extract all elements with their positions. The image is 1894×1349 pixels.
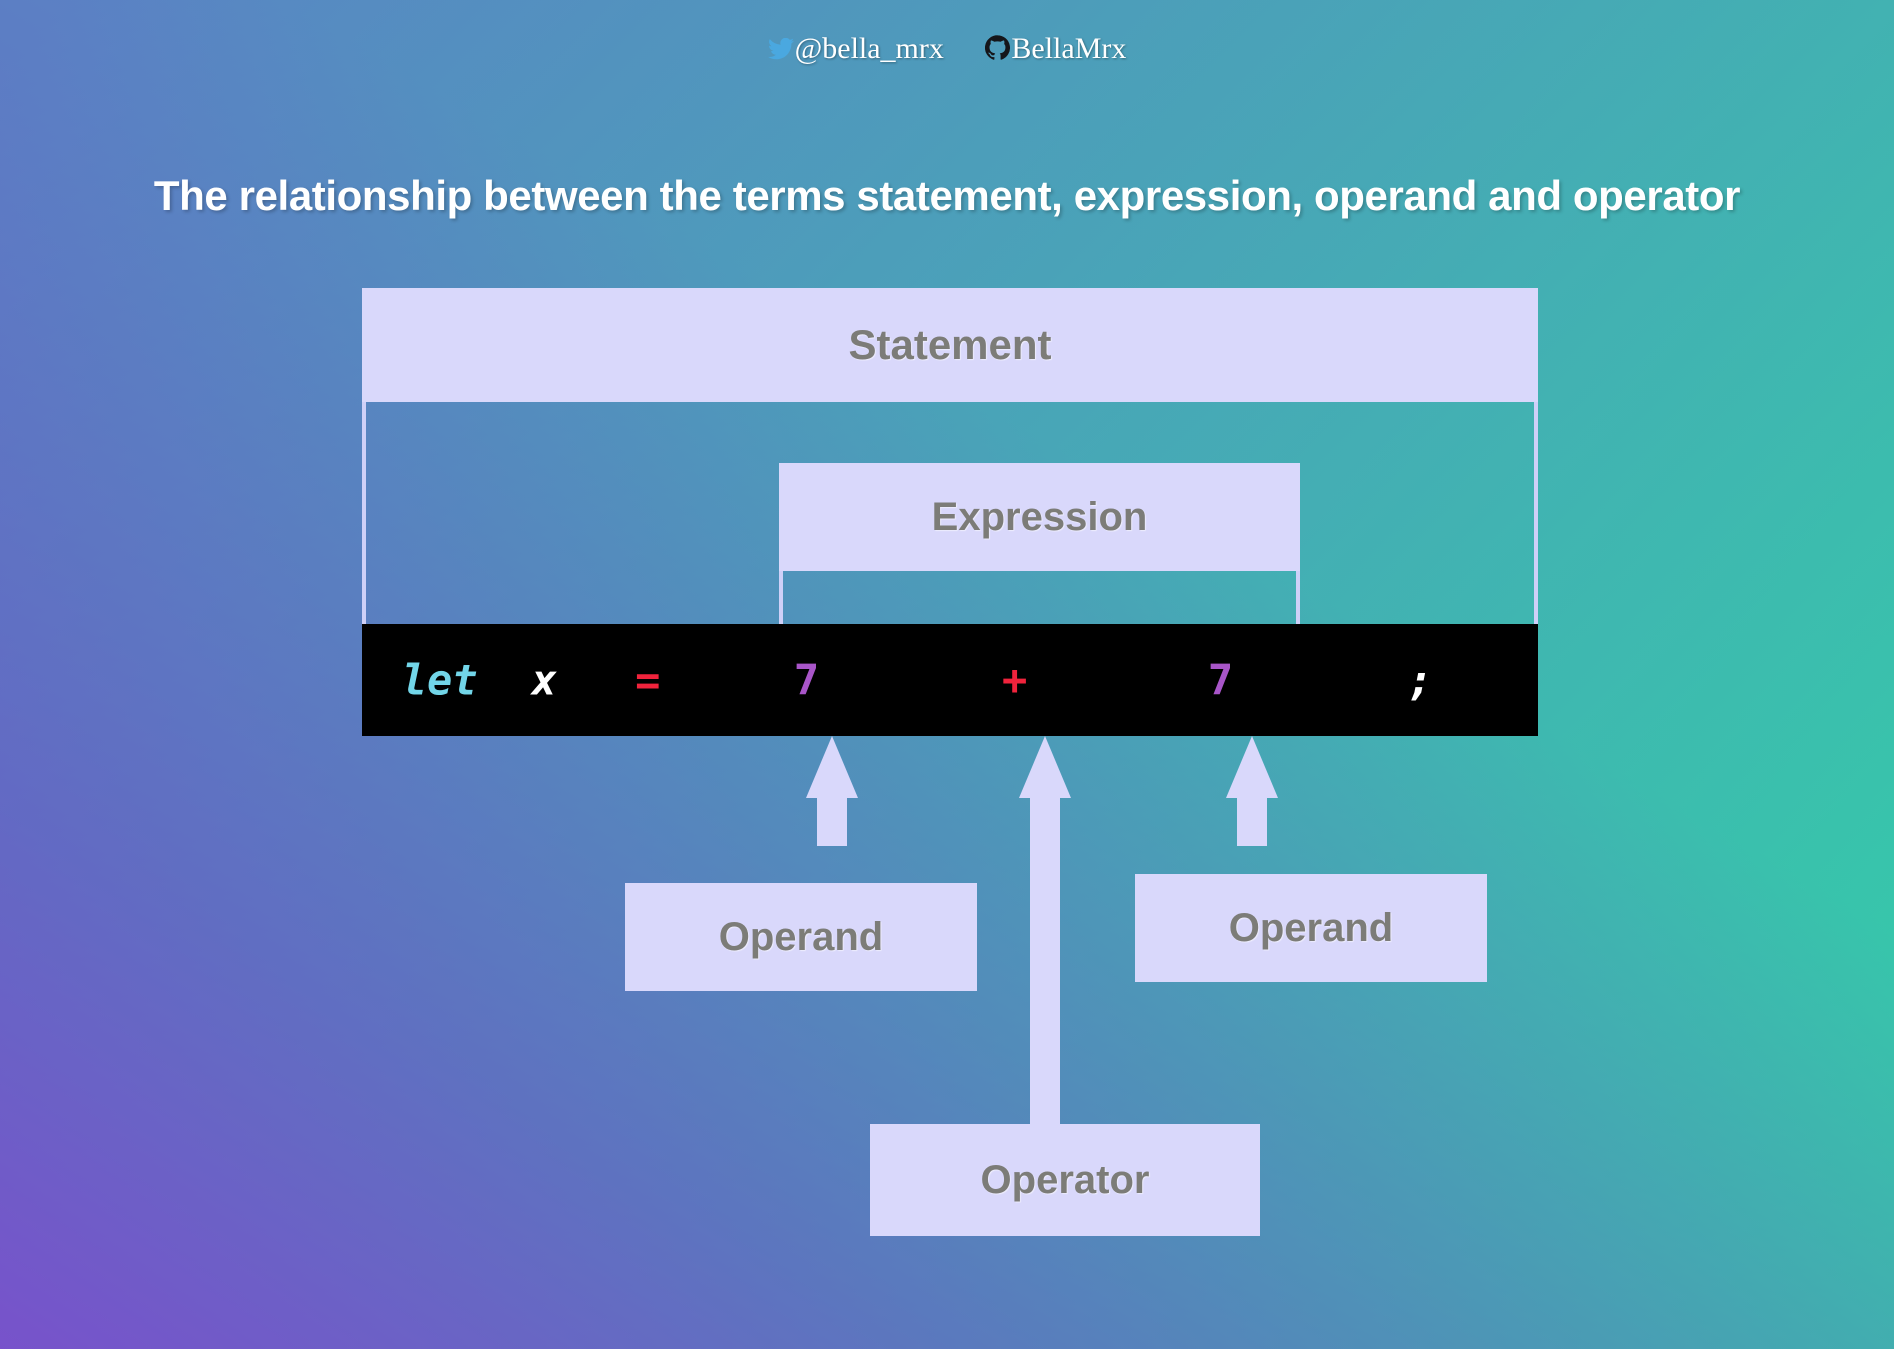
code-token-plus: + (1002, 656, 1027, 705)
page-title: The relationship between the terms state… (0, 172, 1894, 220)
code-token-number-1: 7 (794, 656, 819, 705)
arrow-shaft (817, 798, 847, 846)
arrow-head-icon (1019, 736, 1071, 798)
code-token-number-2: 7 (1208, 656, 1233, 705)
expression-bracket (779, 571, 1300, 624)
operand-right-box: Operand (1135, 874, 1487, 982)
expression-label: Expression (932, 495, 1148, 540)
github-handle[interactable]: BellaMrx (985, 30, 1126, 68)
arrow-head-icon (1226, 736, 1278, 798)
operator-box: Operator (870, 1124, 1260, 1236)
code-token-assign: = (635, 656, 660, 705)
code-token-x: x (532, 656, 557, 705)
arrow-head-icon (806, 736, 858, 798)
social-handles: @bella_mrx BellaMrx (0, 30, 1894, 68)
statement-box: Statement (362, 288, 1538, 402)
operand-left-label: Operand (719, 915, 883, 960)
code-bar: let x = 7 + 7 ; (362, 624, 1538, 736)
diagram-stage: @bella_mrx BellaMrx The relationship bet… (0, 0, 1894, 1349)
twitter-handle[interactable]: @bella_mrx (768, 30, 944, 68)
code-token-semicolon: ; (1408, 656, 1433, 705)
twitter-handle-label: @bella_mrx (795, 32, 944, 65)
arrow-operand-left (806, 736, 858, 846)
operand-left-box: Operand (625, 883, 977, 991)
code-token-let: let (402, 656, 478, 705)
github-icon (985, 34, 1010, 68)
twitter-icon (768, 34, 794, 68)
expression-box: Expression (779, 463, 1300, 571)
arrow-shaft (1237, 798, 1267, 846)
operand-right-label: Operand (1229, 906, 1393, 951)
arrow-operator (1019, 736, 1071, 1186)
operator-label: Operator (981, 1158, 1150, 1203)
github-handle-label: BellaMrx (1011, 32, 1126, 65)
statement-label: Statement (848, 321, 1051, 369)
code-line: let x = 7 + 7 ; (362, 624, 1538, 736)
arrow-operand-right (1226, 736, 1278, 846)
